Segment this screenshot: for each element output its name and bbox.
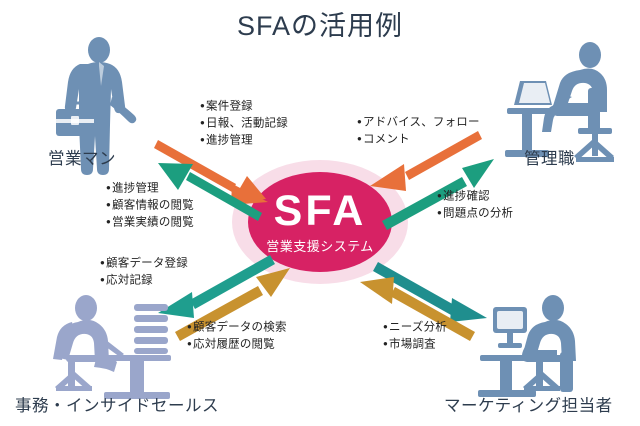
- flow-list-inside-sales-to-sfa: 顧客データの検索 応対履歴の閲覧: [187, 319, 287, 353]
- role-label-manager: 管理職: [524, 145, 575, 169]
- seated-marketer-desk-icon: [478, 295, 576, 397]
- flow-item: コメント: [357, 131, 480, 148]
- flow-item: 顧客データの検索: [187, 319, 287, 336]
- flow-list-sales-to-sfa: 案件登録 日報、活動記録 進捗管理: [200, 98, 288, 149]
- flow-item: 進捗管理: [200, 132, 288, 149]
- flow-item: 応対履歴の閲覧: [187, 336, 287, 353]
- flow-item: 市場調査: [383, 336, 447, 353]
- flow-item: アドバイス、フォロー: [357, 114, 480, 131]
- page-title: SFAの活用例: [0, 4, 640, 43]
- seated-manager-desk-icon: [505, 42, 614, 162]
- role-label-marketer: マーケティング担当者: [444, 392, 613, 416]
- flow-list-sfa-to-inside-sales: 顧客データ登録 応対記録: [100, 255, 188, 289]
- flow-list-marketer-to-sfa: ニーズ分析 市場調査: [383, 319, 447, 353]
- flow-list-manager-to-sfa: アドバイス、フォロー コメント: [357, 114, 480, 148]
- flow-item: 顧客データ登録: [100, 255, 188, 272]
- flow-item: 日報、活動記録: [200, 115, 288, 132]
- flow-item: 案件登録: [200, 98, 288, 115]
- role-label-inside-sales: 事務・インサイドセールス: [15, 392, 219, 416]
- flow-item: 応対記録: [100, 272, 188, 289]
- diagram-canvas: SFAの活用例 営業マン 管理職 事務・インサイドセールス マーケティング担当者…: [0, 0, 640, 426]
- role-label-sales-person: 営業マン: [48, 145, 116, 169]
- center-title: SFA: [0, 188, 640, 234]
- center-subtitle: 営業支援システム: [0, 236, 640, 255]
- seated-office-worker-icon: [53, 295, 171, 399]
- flow-item: ニーズ分析: [383, 319, 447, 336]
